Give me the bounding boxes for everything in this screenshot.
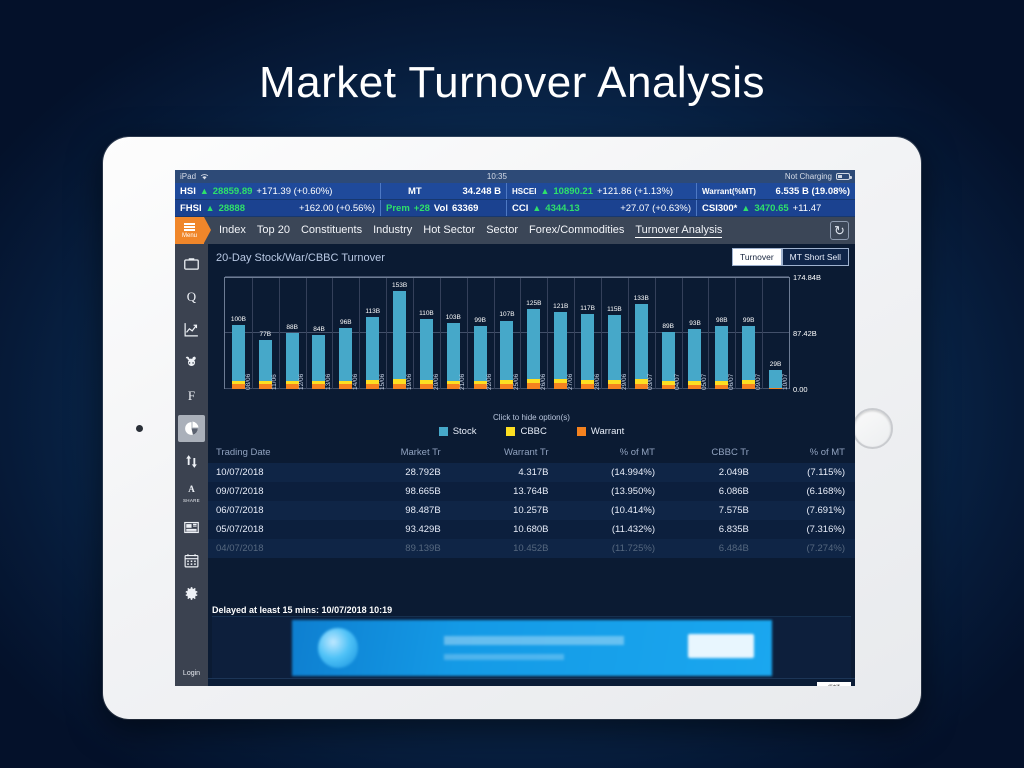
stacked-bar[interactable] <box>339 328 352 389</box>
turnover-table: Trading Date Market Tr Warrant Tr % of M… <box>208 443 855 558</box>
chart-bar-column[interactable] <box>574 278 601 389</box>
tab-industry[interactable]: Industry <box>373 224 412 237</box>
x-axis-tick-label: 13/06 <box>325 374 332 390</box>
bar-segment-warrant <box>635 384 648 389</box>
bar-segment-stock <box>554 312 567 380</box>
x-axis-tick-label: 05/07 <box>701 374 708 390</box>
device-label: iPad <box>180 172 196 181</box>
legend-swatch-cbbc <box>506 427 515 436</box>
turnover-table-wrap[interactable]: Trading Date Market Tr Warrant Tr % of M… <box>208 443 855 616</box>
col-trading-date: Trading Date <box>208 443 352 463</box>
chart-title: 20-Day Stock/War/CBBC Turnover <box>216 252 385 264</box>
stacked-bar[interactable] <box>688 329 701 389</box>
stacked-bar[interactable] <box>527 309 540 389</box>
y-axis-tick-label: 0.00 <box>793 385 808 394</box>
stacked-bar[interactable] <box>286 333 299 389</box>
table-cell-5: (7.691%) <box>759 501 855 520</box>
bar-segment-warrant <box>232 384 245 389</box>
bar-value-label: 125B <box>526 300 541 307</box>
news-ticker-bar[interactable]: 10/07/2018 10:26 Macquarie starts Xiaomi… <box>208 678 855 686</box>
quote-cci[interactable]: CCI ▲ 4344.13 +27.07 (+0.63%) <box>506 200 696 216</box>
bar-segment-warrant <box>259 384 272 389</box>
bar-segment-stock <box>366 317 379 380</box>
calendar-icon[interactable] <box>178 547 205 574</box>
table-cell-5: (7.316%) <box>759 520 855 539</box>
bar-value-label: 93B <box>689 320 701 327</box>
table-cell-2: 10.680B <box>451 520 559 539</box>
table-cell-4: 7.575B <box>665 501 759 520</box>
chart-bar-column[interactable] <box>386 278 413 389</box>
chart-legend: Stock CBBC Warrant <box>208 426 855 437</box>
stacked-bar[interactable] <box>581 314 594 389</box>
bar-value-label: 99B <box>743 317 755 324</box>
tab-hot-sector[interactable]: Hot Sector <box>423 224 475 237</box>
bar-value-label: 84B <box>313 326 325 333</box>
bar-value-label: 103B <box>446 314 461 321</box>
up-arrow-icon: ▲ <box>540 187 549 196</box>
front-camera-icon <box>136 425 143 432</box>
table-cell-2: 10.257B <box>451 501 559 520</box>
x-axis-tick-label: 06/07 <box>728 374 735 390</box>
table-body: 10/07/201828.792B4.317B(14.994%)2.049B(7… <box>208 463 855 558</box>
col-warrant-tr: Warrant Tr <box>451 443 559 463</box>
stacked-bar[interactable] <box>366 317 379 389</box>
refresh-icon[interactable]: ↻ <box>830 221 849 240</box>
bar-segment-warrant <box>339 384 352 389</box>
bar-value-label: 29B <box>770 361 782 368</box>
bar-segment-stock <box>742 326 755 380</box>
table-cell-4: 6.086B <box>665 482 759 501</box>
bar-segment-stock <box>608 315 621 380</box>
left-sidebar: Q F <box>175 244 208 686</box>
chart-bar-column[interactable] <box>332 278 359 389</box>
bar-segment-stock <box>688 329 701 381</box>
bar-segment-warrant <box>366 384 379 389</box>
table-cell-3: (11.432%) <box>559 520 665 539</box>
bar-segment-stock <box>232 325 245 381</box>
x-axis-tick-label: 28/06 <box>594 374 601 390</box>
stacked-bar[interactable] <box>420 319 433 389</box>
chart-bar-column[interactable] <box>762 278 789 389</box>
x-axis-tick-label: 27/06 <box>567 374 574 390</box>
bar-segment-stock <box>500 321 513 381</box>
ad-content <box>292 620 772 676</box>
x-axis-tick-label: 03/07 <box>647 374 654 390</box>
bar-segment-warrant <box>581 384 594 389</box>
x-axis-tick-label: 04/07 <box>674 374 681 390</box>
x-axis-tick-label: 19/06 <box>406 374 413 390</box>
chart-bar-column[interactable] <box>359 278 386 389</box>
table-cell-0: 04/07/2018 <box>208 539 352 558</box>
x-axis-tick-label: 09/07 <box>755 374 762 390</box>
legend-item-cbbc[interactable]: CBBC <box>506 426 546 437</box>
chart-bar-column[interactable] <box>279 278 306 389</box>
stacked-bar[interactable] <box>715 326 728 389</box>
table-cell-3: (13.950%) <box>559 482 665 501</box>
bar-value-label: 113B <box>365 308 380 315</box>
table-row[interactable]: 09/07/201898.665B13.764B(13.950%)6.086B(… <box>208 482 855 501</box>
bar-segment-stock <box>312 335 325 380</box>
quote-icon[interactable]: Q <box>178 283 205 310</box>
col-cbbc-tr: CBBC Tr <box>665 443 759 463</box>
quote-hsi[interactable]: HSI ▲ 28859.89 +171.39 (+0.60%) <box>175 183 380 199</box>
x-axis-tick-label: 15/06 <box>379 374 386 390</box>
table-cell-2: 13.764B <box>451 482 559 501</box>
delay-note: Delayed at least 15 mins: 10/07/2018 10:… <box>208 604 855 616</box>
table-cell-0: 10/07/2018 <box>208 463 352 482</box>
x-axis-tick-label: 11/06 <box>271 374 278 390</box>
portfolio-icon[interactable] <box>178 250 205 277</box>
stacked-bar[interactable] <box>393 291 406 389</box>
stacked-bar[interactable] <box>742 326 755 389</box>
table-cell-2: 4.317B <box>451 463 559 482</box>
tab-index[interactable]: Index <box>219 224 246 237</box>
legend-hint: Click to hide option(s) <box>208 413 855 422</box>
stacked-bar[interactable] <box>500 321 513 390</box>
toggle-mt-short-sell[interactable]: MT Short Sell <box>782 248 849 266</box>
table-cell-0: 06/07/2018 <box>208 501 352 520</box>
table-header-row: Trading Date Market Tr Warrant Tr % of M… <box>208 443 855 463</box>
bar-segment-stock <box>662 332 675 381</box>
stacked-bar[interactable] <box>312 335 325 389</box>
chart-bar-column[interactable] <box>520 278 547 389</box>
home-button[interactable] <box>852 408 893 449</box>
advertisement-banner[interactable] <box>212 616 851 678</box>
x-axis-tick-label: 21/06 <box>459 374 466 390</box>
table-cell-4: 6.835B <box>665 520 759 539</box>
bar-value-label: 96B <box>340 319 352 326</box>
table-cell-3: (10.414%) <box>559 501 665 520</box>
x-axis-tick-label: 08/06 <box>245 374 252 390</box>
y-axis-tick-label: 87.42B <box>793 329 817 338</box>
battery-status-text: Not Charging <box>785 172 832 181</box>
bar-value-label: 115B <box>607 306 622 313</box>
poster-title: Market Turnover Analysis <box>0 58 1024 108</box>
legend-item-warrant[interactable]: Warrant <box>577 426 624 437</box>
etnet-logo: 經濟通 etnet <box>817 682 851 686</box>
tab-forex-commodities[interactable]: Forex/Commodities <box>529 224 624 237</box>
chart-header: 20-Day Stock/War/CBBC Turnover Turnover … <box>208 244 855 271</box>
stacked-bar[interactable] <box>474 326 487 389</box>
x-axis-tick-label: 14/06 <box>352 374 359 390</box>
table-cell-4: 2.049B <box>665 463 759 482</box>
bar-segment-warrant <box>715 385 728 389</box>
table-cell-0: 09/07/2018 <box>208 482 352 501</box>
table-row[interactable]: 05/07/201893.429B10.680B(11.432%)6.835B(… <box>208 520 855 539</box>
col-market-tr: Market Tr <box>352 443 451 463</box>
bar-segment-warrant <box>527 383 540 389</box>
futures-icon[interactable]: F <box>178 382 205 409</box>
settings-gear-icon[interactable] <box>178 580 205 607</box>
table-cell-1: 98.665B <box>352 482 451 501</box>
bar-value-label: 77B <box>259 331 271 338</box>
chart-bar-column[interactable] <box>306 278 333 389</box>
chart-bar-column[interactable] <box>440 278 467 389</box>
quote-csi300[interactable]: CSI300* ▲ 3470.65 +11.47 <box>696 200 855 216</box>
table-cell-3: (11.725%) <box>559 539 665 558</box>
table-cell-1: 98.487B <box>352 501 451 520</box>
chart-bar-column[interactable] <box>682 278 709 389</box>
legend-swatch-stock <box>439 427 448 436</box>
bar-segment-stock <box>420 319 433 380</box>
chart-bar-column[interactable] <box>708 278 735 389</box>
wifi-icon <box>200 173 209 180</box>
chart-plot-area: 0.0087.42B174.84B100B08/0677B11/0688B12/… <box>224 277 790 389</box>
table-cell-2: 10.452B <box>451 539 559 558</box>
up-arrow-icon: ▲ <box>741 204 750 213</box>
view-toggle-group: Turnover MT Short Sell <box>732 248 849 266</box>
bar-value-label: 107B <box>499 311 514 318</box>
ad-logo-icon <box>318 628 358 668</box>
chart-bar-column[interactable] <box>413 278 440 389</box>
bar-value-label: 89B <box>662 323 674 330</box>
menu-button[interactable]: Menu <box>175 217 204 244</box>
bar-segment-stock <box>474 326 487 381</box>
tab-constituents[interactable]: Constituents <box>301 224 362 237</box>
table-cell-4: 6.484B <box>665 539 759 558</box>
bar-segment-warrant <box>742 384 755 389</box>
stacked-bar[interactable] <box>554 312 567 389</box>
chart-bar-column[interactable] <box>601 278 628 389</box>
chart-legend-block: Click to hide option(s) Stock CBBC Warra… <box>208 413 855 437</box>
table-cell-1: 89.139B <box>352 539 451 558</box>
bar-segment-warrant <box>500 384 513 389</box>
bar-segment-stock <box>635 304 648 380</box>
x-axis-tick-label: 12/06 <box>298 374 305 390</box>
bar-segment-warrant <box>662 385 675 389</box>
turnover-bar-chart[interactable]: 0.0087.42B174.84B100B08/0677B11/0688B12/… <box>216 271 847 411</box>
stacked-bar[interactable] <box>608 315 621 389</box>
battery-icon <box>836 173 850 180</box>
col-warrant-pct-mt: % of MT <box>559 443 665 463</box>
quote-fhsi[interactable]: FHSI ▲ 28888 +162.00 (+0.56%) <box>175 200 380 216</box>
bar-segment-warrant <box>608 384 621 389</box>
stacked-bar[interactable] <box>447 323 460 389</box>
chart-bar-column[interactable] <box>735 278 762 389</box>
status-time: 10:35 <box>209 172 785 181</box>
content-area: Q F <box>175 244 855 686</box>
bar-segment-stock <box>527 309 540 379</box>
table-row[interactable]: 10/07/201828.792B4.317B(14.994%)2.049B(7… <box>208 463 855 482</box>
table-cell-5: (7.115%) <box>759 463 855 482</box>
chart-bar-column[interactable] <box>467 278 494 389</box>
toggle-turnover[interactable]: Turnover <box>732 248 782 266</box>
chart-line-icon[interactable] <box>178 316 205 343</box>
ticker-timestamp: 10/07/2018 10:26 <box>216 686 290 687</box>
stacked-bar[interactable] <box>635 304 648 389</box>
x-axis-tick-label: 26/06 <box>540 374 547 390</box>
quote-mt[interactable]: MT 34.248 B <box>380 183 506 199</box>
stacked-bar[interactable] <box>232 325 245 389</box>
hamburger-icon <box>184 222 195 232</box>
ad-text-block <box>444 636 624 660</box>
market-pie-icon[interactable] <box>178 415 205 442</box>
table-cell-3: (14.994%) <box>559 463 665 482</box>
stacked-bar[interactable] <box>769 370 782 389</box>
chart-bar-column[interactable] <box>655 278 682 389</box>
bar-segment-warrant <box>554 383 567 389</box>
quote-row-1: HSI ▲ 28859.89 +171.39 (+0.60%) MT 34.24… <box>175 183 855 200</box>
top-navigation-bar: Menu Index Top 20 Constituents Industry … <box>175 217 855 244</box>
bar-value-label: 99B <box>474 317 486 324</box>
bar-segment-stock <box>286 333 299 381</box>
up-arrow-icon: ▲ <box>200 187 209 196</box>
x-axis-tick-label: 20/06 <box>433 374 440 390</box>
up-arrow-icon: ▲ <box>206 204 215 213</box>
stacked-bar[interactable] <box>662 332 675 389</box>
quote-warrant-pct-mt[interactable]: Warrant(%MT) 6.535 B (19.08%) <box>696 183 855 199</box>
bar-segment-stock <box>259 340 272 382</box>
quote-hscei[interactable]: HSCEI ▲ 10890.21 +121.86 (+1.13%) <box>506 183 696 199</box>
table-row[interactable]: 04/07/201889.139B10.452B(11.725%)6.484B(… <box>208 539 855 558</box>
bar-value-label: 88B <box>286 324 298 331</box>
chart-gridline <box>225 276 789 277</box>
menu-label: Menu <box>182 233 197 239</box>
main-panel: 20-Day Stock/War/CBBC Turnover Turnover … <box>208 244 855 686</box>
bar-segment-warrant <box>420 384 433 389</box>
legend-item-stock[interactable]: Stock <box>439 426 477 437</box>
quote-row-2: FHSI ▲ 28888 +162.00 (+0.56%) Prem +28 V… <box>175 200 855 217</box>
chart-bar-column[interactable] <box>494 278 521 389</box>
tab-top-20[interactable]: Top 20 <box>257 224 290 237</box>
col-cbbc-pct-mt: % of MT <box>759 443 855 463</box>
bar-segment-stock <box>447 323 460 381</box>
bar-segment-warrant <box>312 384 325 389</box>
bar-value-label: 100B <box>231 316 246 323</box>
bar-segment-warrant <box>474 384 487 389</box>
up-arrow-icon: ▲ <box>532 204 541 213</box>
chart-bar-column[interactable] <box>225 278 252 389</box>
transfer-arrows-icon[interactable] <box>178 448 205 475</box>
bar-value-label: 133B <box>634 295 649 302</box>
bar-segment-stock <box>393 291 406 379</box>
bar-segment-warrant <box>393 384 406 389</box>
quote-prem-vol[interactable]: Prem +28 Vol 63369 <box>380 200 506 216</box>
tab-turnover-analysis[interactable]: Turnover Analysis <box>635 224 722 238</box>
table-cell-5: (7.274%) <box>759 539 855 558</box>
table-row[interactable]: 06/07/201898.487B10.257B(10.414%)7.575B(… <box>208 501 855 520</box>
bar-value-label: 98B <box>716 317 728 324</box>
stacked-bar[interactable] <box>259 340 272 389</box>
table-cell-0: 05/07/2018 <box>208 520 352 539</box>
nav-tab-list: Index Top 20 Constituents Industry Hot S… <box>219 224 722 238</box>
bar-value-label: 153B <box>392 282 407 289</box>
app-screen: iPad 10:35 Not Charging HSI ▲ 28859.89 +… <box>175 170 855 686</box>
x-axis-tick-label: 22/06 <box>486 374 493 390</box>
x-axis-tick-label: 29/06 <box>621 374 628 390</box>
table-cell-5: (6.168%) <box>759 482 855 501</box>
back-arrow-icon[interactable]: ↩ <box>186 682 198 686</box>
ad-cta-button[interactable] <box>688 634 754 658</box>
news-layout-icon[interactable] <box>178 514 205 541</box>
legend-swatch-warrant <box>577 427 586 436</box>
x-axis-tick-label: 10/07 <box>782 374 789 390</box>
ios-status-bar: iPad 10:35 Not Charging <box>175 170 855 183</box>
bar-segment-warrant <box>447 384 460 389</box>
a-share-icon[interactable]: A SHARE <box>178 481 205 508</box>
bar-segment-stock <box>769 370 782 387</box>
tab-sector[interactable]: Sector <box>486 224 518 237</box>
ticker-headline[interactable]: Macquarie starts Xiaomi (01810) at HK$30 <box>298 686 478 687</box>
bar-segment-warrant <box>286 384 299 389</box>
table-cell-1: 28.792B <box>352 463 451 482</box>
bar-segment-warrant <box>769 388 782 389</box>
bar-segment-stock <box>715 326 728 380</box>
bar-segment-warrant <box>688 385 701 389</box>
bar-value-label: 121B <box>553 303 568 310</box>
y-axis-tick-label: 174.84B <box>793 273 821 282</box>
chart-bar-column[interactable] <box>547 278 574 389</box>
bar-value-label: 117B <box>580 305 595 312</box>
bar-segment-stock <box>339 328 352 381</box>
login-label[interactable]: Login <box>183 670 200 677</box>
table-cell-1: 93.429B <box>352 520 451 539</box>
x-axis-tick-label: 25/06 <box>513 374 520 390</box>
bull-icon[interactable] <box>178 349 205 376</box>
bar-value-label: 110B <box>419 310 434 317</box>
bar-segment-stock <box>581 314 594 380</box>
